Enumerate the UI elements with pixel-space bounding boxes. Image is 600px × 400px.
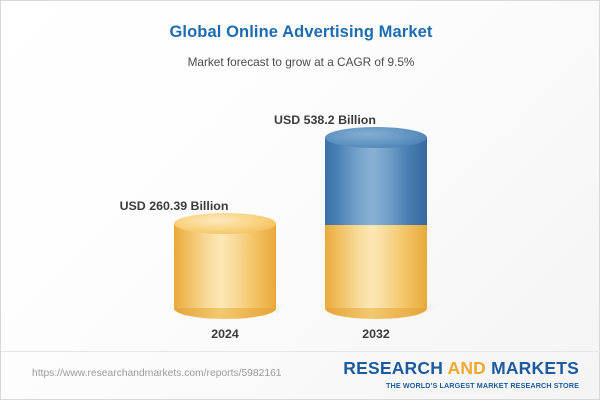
plot-area: USD 260.39 Billion 2024 USD 538.2 Billio… — [1, 1, 600, 353]
brand-word-markets: MARKETS — [491, 358, 579, 378]
source-url[interactable]: https://www.researchandmarkets.com/repor… — [32, 368, 282, 379]
bar-cylinder-2032[interactable] — [325, 137, 427, 308]
cylinder-body-top-2032 — [325, 137, 427, 225]
brand-wordmark: RESEARCH AND MARKETS — [343, 360, 579, 378]
cylinder-top-cap-2024 — [174, 213, 276, 234]
category-label-2024: 2024 — [211, 327, 239, 341]
cylinder-top-cap-2032 — [325, 127, 427, 148]
brand-word-research: RESEARCH — [343, 358, 443, 378]
chart-footer: https://www.researchandmarkets.com/repor… — [1, 351, 600, 399]
cylinder-body-2024 — [174, 223, 276, 308]
bar-segment-yellow-2032 — [325, 225, 427, 308]
bar-segment-blue-2032 — [325, 137, 427, 225]
bar-value-label-2024: USD 260.39 Billion — [120, 199, 229, 213]
category-label-2032: 2032 — [362, 327, 390, 341]
bar-value-label-2032: USD 538.2 Billion — [274, 113, 376, 127]
cylinder-body-base-2032 — [325, 225, 427, 308]
brand-logo[interactable]: RESEARCH AND MARKETS THE WORLD'S LARGEST… — [343, 360, 579, 390]
brand-tagline: THE WORLD'S LARGEST MARKET RESEARCH STOR… — [343, 381, 579, 390]
bar-segment-yellow-2024 — [174, 223, 276, 308]
brand-word-and: AND — [443, 358, 491, 378]
bar-cylinder-2024[interactable] — [174, 223, 276, 308]
chart-canvas: Global Online Advertising Market Market … — [0, 0, 600, 400]
